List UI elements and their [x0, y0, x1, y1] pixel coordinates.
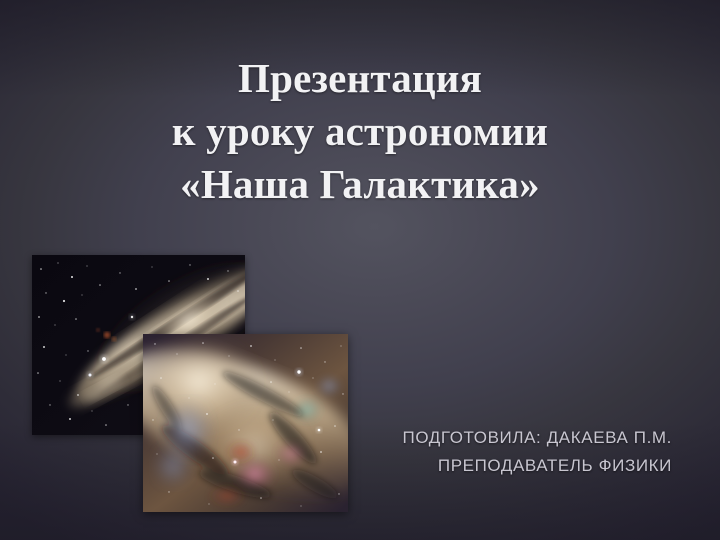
milky-way-core-photo[interactable]: [143, 334, 348, 512]
role-line: ПРЕПОДАВАТЕЛЬ ФИЗИКИ: [403, 452, 673, 480]
milky-way-core-image: [143, 334, 348, 512]
title-line-2: к уроку астрономии: [0, 105, 720, 158]
title-line-1: Презентация: [0, 52, 720, 105]
author-line: ПОДГОТОВИЛА: ДАКАЕВА П.М.: [403, 424, 673, 452]
slide-title: Презентация к уроку астрономии «Наша Гал…: [0, 52, 720, 211]
presentation-slide: Презентация к уроку астрономии «Наша Гал…: [0, 0, 720, 540]
slide-subtitle: ПОДГОТОВИЛА: ДАКАЕВА П.М. ПРЕПОДАВАТЕЛЬ …: [403, 424, 673, 480]
title-line-3: «Наша Галактика»: [0, 158, 720, 211]
